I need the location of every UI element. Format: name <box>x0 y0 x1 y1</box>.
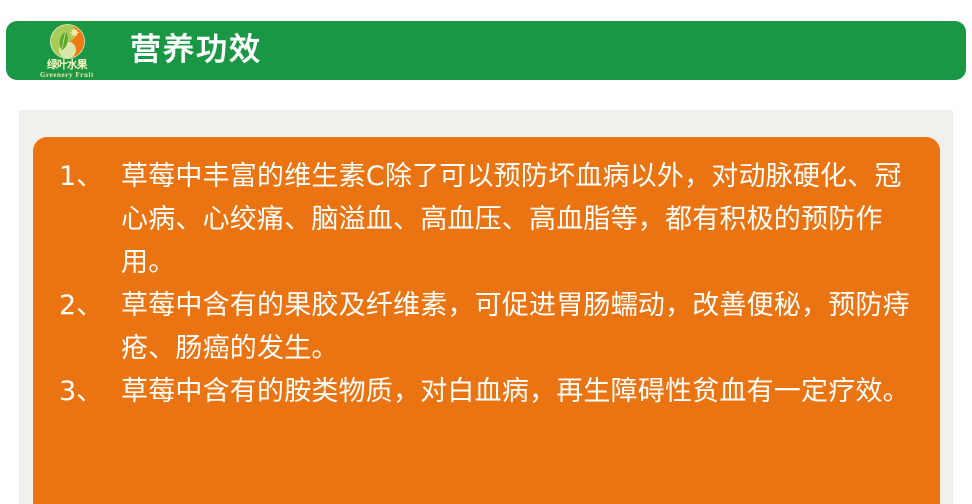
brand-logo: 绿叶水果 Greenery Fruit <box>28 22 106 80</box>
page-title: 营养功效 <box>130 35 262 66</box>
benefits-list: 1、 草莓中丰富的维生素C除了可以预防坏血病以外，对动脉硬化、冠心病、心绞痛、脑… <box>59 155 914 413</box>
list-item: 1、 草莓中丰富的维生素C除了可以预防坏血病以外，对动脉硬化、冠心病、心绞痛、脑… <box>59 155 914 284</box>
list-item-text: 草莓中含有的果胶及纤维素，可促进胃肠蠕动，改善便秘，预防痔疮、肠癌的发生。 <box>121 284 914 370</box>
brand-name-en: Greenery Fruit <box>40 71 94 79</box>
brand-name-cn: 绿叶水果 <box>47 59 87 71</box>
benefits-card: 1、 草莓中丰富的维生素C除了可以预防坏血病以外，对动脉硬化、冠心病、心绞痛、脑… <box>33 137 940 504</box>
leaf-orange-circle-logo-icon <box>49 23 86 60</box>
list-item: 2、 草莓中含有的果胶及纤维素，可促进胃肠蠕动，改善便秘，预防痔疮、肠癌的发生。 <box>59 284 914 370</box>
list-item-number: 2、 <box>59 284 121 327</box>
list-item: 3、 草莓中含有的胺类物质，对白血病，再生障碍性贫血有一定疗效。 <box>59 370 914 413</box>
list-item-number: 3、 <box>59 370 121 413</box>
list-item-number: 1、 <box>59 155 121 198</box>
header-bar: 绿叶水果 Greenery Fruit 营养功效 <box>6 21 966 80</box>
list-item-text: 草莓中含有的胺类物质，对白血病，再生障碍性贫血有一定疗效。 <box>121 370 914 413</box>
list-item-text: 草莓中丰富的维生素C除了可以预防坏血病以外，对动脉硬化、冠心病、心绞痛、脑溢血、… <box>121 155 914 284</box>
slide-root: 绿叶水果 Greenery Fruit 营养功效 1、 草莓中丰富的维生素C除了… <box>0 0 972 504</box>
